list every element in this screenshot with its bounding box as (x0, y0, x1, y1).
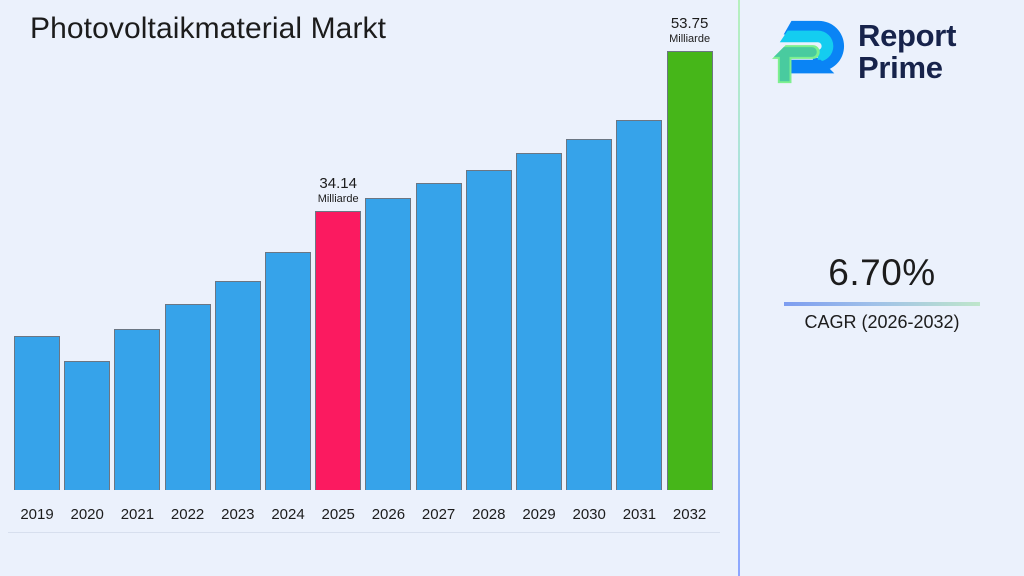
bar-slot-2028 (466, 0, 512, 490)
bar-slot-2032: 53.75Milliarde (667, 0, 713, 490)
cagr-caption: CAGR (2026-2032) (740, 312, 1024, 333)
bar-chart-plot-area: 34.14Milliarde53.75Milliarde 20192020202… (0, 0, 738, 533)
bar-2024[interactable] (265, 252, 311, 490)
bar-slot-2029 (516, 0, 562, 490)
x-tick-2025: 2025 (315, 506, 361, 523)
bar-slot-2025: 34.14Milliarde (315, 0, 361, 490)
bar-2031[interactable] (616, 120, 662, 490)
bar-value-unit-2032: Milliarde (649, 33, 731, 45)
bar-2020[interactable] (64, 361, 110, 490)
report-prime-logo-icon (770, 15, 848, 89)
bar-slot-2024 (265, 0, 311, 490)
cagr-divider-rule (784, 302, 980, 306)
bar-slot-2027 (416, 0, 462, 490)
brand-name-line1: Report (858, 20, 956, 52)
cagr-value: 6.70% (740, 252, 1024, 294)
bar-slot-2031 (616, 0, 662, 490)
x-tick-2029: 2029 (516, 506, 562, 523)
bar-2027[interactable] (416, 183, 462, 490)
x-tick-2024: 2024 (265, 506, 311, 523)
bar-2025[interactable] (315, 211, 361, 490)
bar-value-label-2032: 53.75Milliarde (649, 16, 731, 45)
x-tick-2031: 2031 (616, 506, 662, 523)
chart-panel: Photovoltaikmaterial Markt 34.14Milliard… (0, 0, 738, 576)
x-tick-2019: 2019 (14, 506, 60, 523)
bar-2032[interactable] (667, 51, 713, 490)
bar-2021[interactable] (114, 329, 160, 490)
bar-2023[interactable] (215, 281, 261, 490)
x-tick-2030: 2030 (566, 506, 612, 523)
bar-slot-2026 (365, 0, 411, 490)
bar-2030[interactable] (566, 139, 612, 490)
info-panel: Report Prime 6.70% CAGR (2026-2032) (740, 0, 1024, 576)
bar-2019[interactable] (14, 336, 60, 490)
x-tick-2028: 2028 (466, 506, 512, 523)
bar-slot-2020 (64, 0, 110, 490)
x-tick-2032: 2032 (667, 506, 713, 523)
bar-slot-2021 (114, 0, 160, 490)
x-tick-2026: 2026 (365, 506, 411, 523)
bar-2029[interactable] (516, 153, 562, 490)
brand-logo: Report Prime (770, 10, 1010, 94)
x-tick-2022: 2022 (165, 506, 211, 523)
bar-slot-2022 (165, 0, 211, 490)
brand-name-line2: Prime (858, 52, 956, 84)
x-tick-2023: 2023 (215, 506, 261, 523)
brand-name: Report Prime (858, 20, 956, 83)
bar-slot-2030 (566, 0, 612, 490)
bar-2026[interactable] (365, 198, 411, 490)
bar-2028[interactable] (466, 170, 512, 490)
bar-value-number-2032: 53.75 (649, 16, 731, 33)
x-tick-2020: 2020 (64, 506, 110, 523)
x-axis-line (8, 532, 720, 533)
bar-2022[interactable] (165, 304, 211, 490)
bar-slot-2019 (14, 0, 60, 490)
bar-slot-2023 (215, 0, 261, 490)
cagr-block: 6.70% CAGR (2026-2032) (740, 252, 1024, 333)
x-tick-2021: 2021 (114, 506, 160, 523)
x-tick-2027: 2027 (416, 506, 462, 523)
